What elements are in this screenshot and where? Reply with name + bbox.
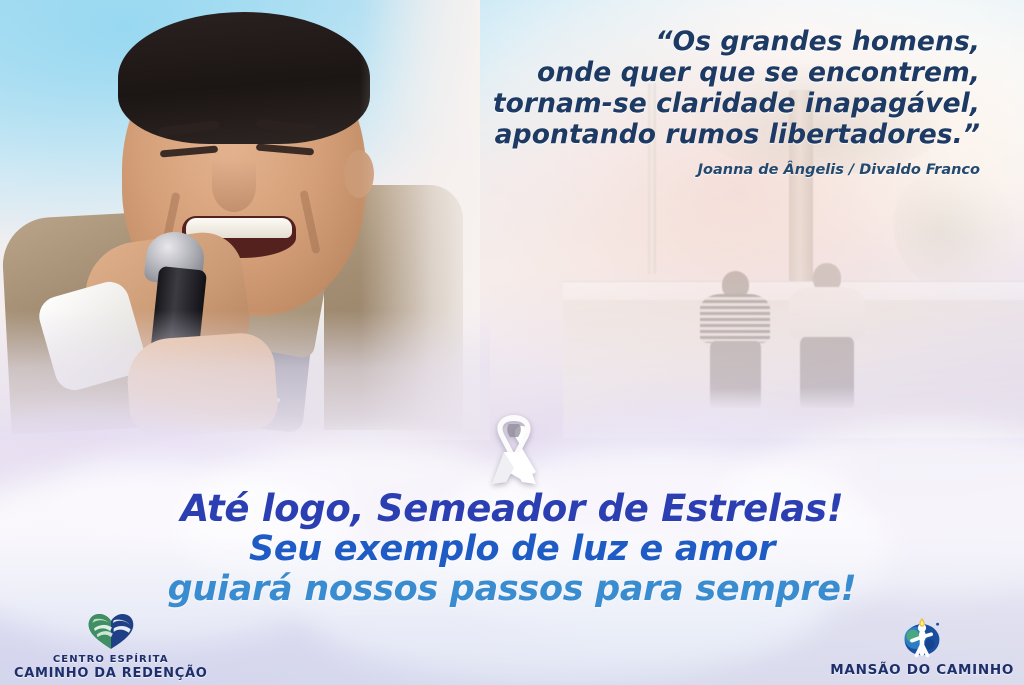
logo-right-line-1: MANSÃO DO CAMINHO xyxy=(830,663,1014,679)
headline-block: Até logo, Semeador de Estrelas! Seu exem… xyxy=(0,488,1024,609)
white-ribbon-icon xyxy=(480,412,548,490)
headline-line-1: Até logo, Semeador de Estrelas! xyxy=(0,488,1024,529)
quote-line-4: apontando rumos libertadores.” xyxy=(420,119,980,150)
logo-centro-espirita-caminho-da-redencao: CENTRO ESPÍRITA CAMINHO DA REDENÇÃO xyxy=(14,612,208,681)
quote-block: “Os grandes homens, onde quer que se enc… xyxy=(420,26,980,178)
headline-line-2: Seu exemplo de luz e amor xyxy=(0,529,1024,569)
quote-line-2: onde quer que se encontrem, xyxy=(420,57,980,88)
heart-hands-icon xyxy=(86,612,136,654)
quote-line-1: “Os grandes homens, xyxy=(420,26,980,57)
logo-left-line-1: CENTRO ESPÍRITA xyxy=(14,654,208,666)
hair xyxy=(118,12,370,144)
palm-foliage xyxy=(893,169,1015,294)
logo-mansao-do-caminho: MANSÃO DO CAMINHO xyxy=(830,615,1014,679)
logo-left-text: CENTRO ESPÍRITA CAMINHO DA REDENÇÃO xyxy=(14,654,208,681)
headline-line-3: guiará nossos passos para sempre! xyxy=(0,569,1024,609)
globe-figure-icon xyxy=(900,615,944,663)
nose xyxy=(212,160,256,212)
quote-line-3: tornam-se claridade inapagável, xyxy=(420,88,980,119)
logo-right-text: MANSÃO DO CAMINHO xyxy=(830,663,1014,679)
person-torso xyxy=(789,287,864,339)
logo-left-line-2: CAMINHO DA REDENÇÃO xyxy=(14,666,208,681)
person-torso xyxy=(700,294,771,343)
tribute-poster: “Os grandes homens, onde quer que se enc… xyxy=(0,0,1024,685)
quote-attribution: Joanna de Ângelis / Divaldo Franco xyxy=(420,162,980,178)
